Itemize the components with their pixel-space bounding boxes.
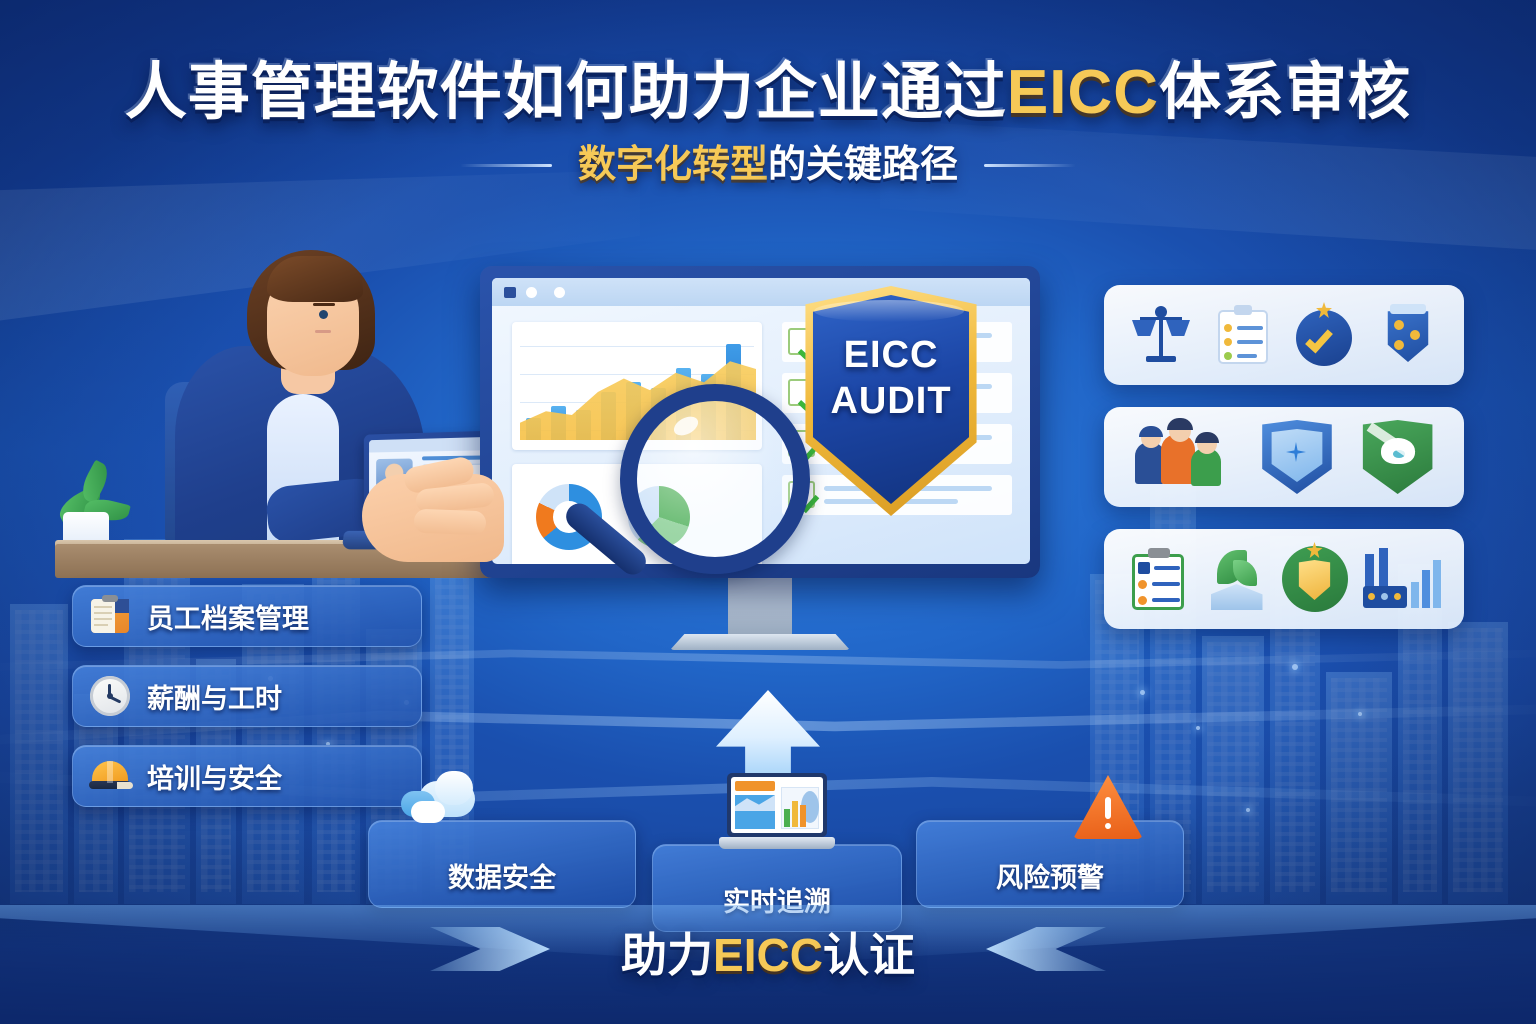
- pill-data-security[interactable]: 数据安全: [368, 820, 636, 908]
- monitor-base: [670, 634, 850, 650]
- scales-of-justice-icon: [1130, 304, 1192, 366]
- compliance-icon-panels: [1104, 285, 1464, 651]
- shield-line-2: AUDIT: [798, 378, 984, 424]
- shield-label: EICC AUDIT: [798, 332, 984, 424]
- pill-employee-records[interactable]: 员工档案管理: [72, 585, 422, 647]
- header: 人事管理软件如何助力企业通过EICC体系审核 数字化转型的关键路径: [0, 0, 1536, 235]
- clipboard-checklist-icon: [1212, 304, 1274, 366]
- capability-pill-row: 数据安全 实时追溯: [368, 800, 1184, 912]
- title-text-lead: 人事管理软件如何助力企业通过: [125, 58, 1007, 127]
- green-shield-badge-icon: [1282, 546, 1348, 612]
- pill-label: 风险预警: [996, 856, 1104, 895]
- cloud-icon: [399, 775, 483, 843]
- title-text-tail: 体系审核: [1159, 58, 1411, 127]
- subtitle-accent: 数字化转型: [578, 144, 768, 186]
- subtitle-rule-right: [984, 164, 1076, 167]
- hardhat-icon: [89, 755, 131, 797]
- people-group-icon: [1133, 426, 1233, 488]
- green-leaf-shield-icon: [1361, 420, 1435, 494]
- hand-holding-magnifier: [362, 474, 504, 562]
- pill-payroll-hours[interactable]: 薪酬与工时: [72, 665, 422, 727]
- title-accent-eicc: EICC: [1007, 58, 1159, 127]
- blue-shield-icon: [1260, 420, 1334, 494]
- laptop-chart-icon: [719, 773, 835, 857]
- shield-highlight: [814, 300, 964, 322]
- magnifying-glass-icon: [620, 384, 810, 574]
- banner-accent-eicc: EICC: [713, 929, 823, 981]
- monitor: EICC AUDIT: [480, 266, 1040, 686]
- pill-training-safety[interactable]: 培训与安全: [72, 745, 422, 807]
- clipboard-green-icon: [1128, 548, 1190, 610]
- subtitle-row: 数字化转型的关键路径: [0, 146, 1536, 184]
- shield-line-1: EICC: [798, 332, 984, 378]
- icon-panel-environment[interactable]: [1104, 529, 1464, 629]
- factory-chart-icon: [1363, 548, 1441, 610]
- clock-icon: [89, 675, 131, 717]
- pill-label: 薪酬与工时: [147, 677, 282, 716]
- page-subtitle: 数字化转型的关键路径: [578, 146, 958, 184]
- app-icon: [504, 287, 516, 298]
- pill-label: 培训与安全: [147, 757, 282, 796]
- subtitle-rule-left: [460, 164, 552, 167]
- banner-text-lead: 助力: [621, 929, 713, 981]
- check-badge-icon: [1294, 304, 1356, 366]
- subtitle-rest: 的关键路径: [768, 144, 958, 186]
- banner-text-tail: 认证: [823, 929, 915, 981]
- person-hair-front: [267, 256, 363, 302]
- leaf-icon: [1205, 548, 1267, 610]
- clipboard-icon: [89, 595, 131, 637]
- hr-module-pill-list: 员工档案管理 薪酬与工时 培训与安全: [72, 585, 422, 825]
- eicc-audit-shield: EICC AUDIT: [798, 286, 984, 516]
- icon-panel-labor[interactable]: [1104, 407, 1464, 507]
- icon-panel-governance[interactable]: [1104, 285, 1464, 385]
- shield-document-icon: [1376, 304, 1438, 366]
- bottom-banner: 助力EICC认证: [0, 905, 1536, 1024]
- pill-label: 员工档案管理: [147, 597, 309, 636]
- warning-triangle-icon: [1065, 775, 1149, 843]
- infographic-canvas: 人事管理软件如何助力企业通过EICC体系审核 数字化转型的关键路径: [0, 0, 1536, 1024]
- pill-label: 数据安全: [448, 856, 556, 895]
- banner-text: 助力EICC认证: [0, 919, 1536, 985]
- monitor-neck: [728, 578, 792, 636]
- page-title: 人事管理软件如何助力企业通过EICC体系审核: [0, 62, 1536, 124]
- pill-risk-alert[interactable]: 风险预警: [916, 820, 1184, 908]
